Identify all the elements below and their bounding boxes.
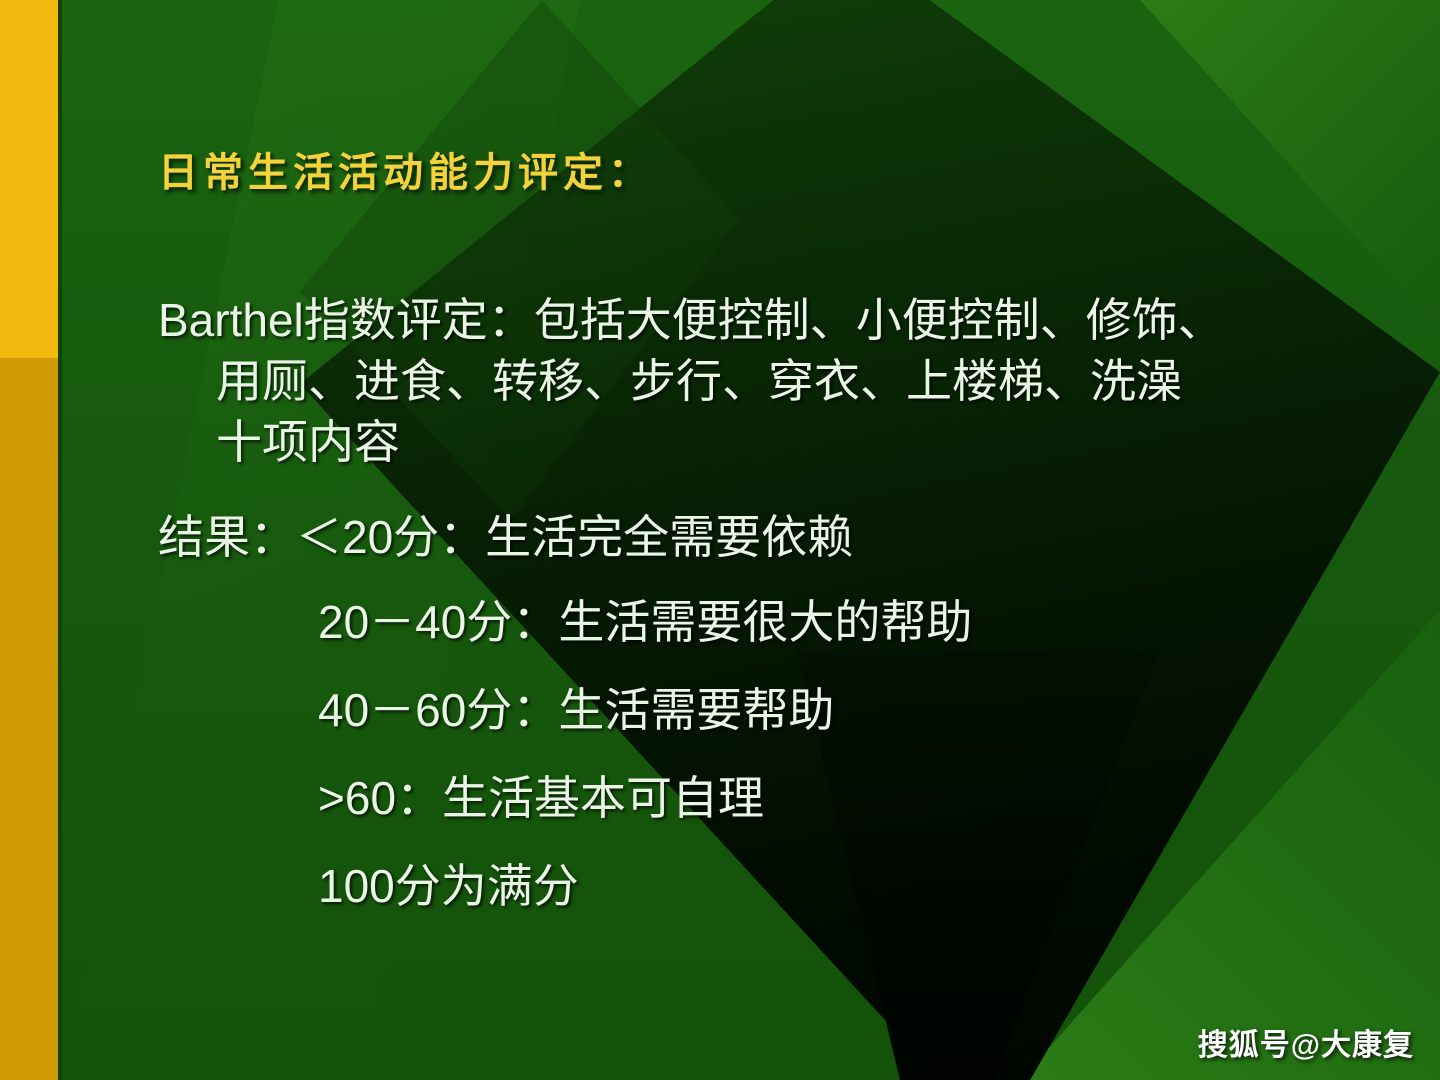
barthel-definition-line-1: Barthel指数评定：包括大便控制、小便控制、修饰、 xyxy=(158,294,1224,346)
watermark: 搜狐号@大康复 xyxy=(1198,1020,1414,1064)
slide-body: Barthel指数评定：包括大便控制、小便控制、修饰、 用厕、进食、转移、步行、… xyxy=(158,290,1398,945)
barthel-definition-paragraph: Barthel指数评定：包括大便控制、小便控制、修饰、 用厕、进食、转移、步行、… xyxy=(158,290,1398,474)
barthel-definition-line-2: 用厕、进食、转移、步行、穿衣、上楼梯、洗澡 xyxy=(158,351,1398,412)
result-line-40-60: 40－60分：生活需要帮助 xyxy=(158,681,1398,741)
slide-content: 日常生活活动能力评定： Barthel指数评定：包括大便控制、小便控制、修饰、 … xyxy=(0,0,1440,1080)
result-line-over-60: >60：生活基本可自理 xyxy=(158,769,1398,829)
barthel-definition-line-3: 十项内容 xyxy=(158,412,1398,473)
result-line-max-score: 100分为满分 xyxy=(158,857,1398,917)
result-line-20-40: 20－40分：生活需要很大的帮助 xyxy=(158,593,1398,653)
result-line-under-20: 结果：＜20分：生活完全需要依赖 xyxy=(158,508,1398,568)
slide-title: 日常生活活动能力评定： xyxy=(158,140,653,198)
presentation-slide: 日常生活活动能力评定： Barthel指数评定：包括大便控制、小便控制、修饰、 … xyxy=(0,0,1440,1080)
